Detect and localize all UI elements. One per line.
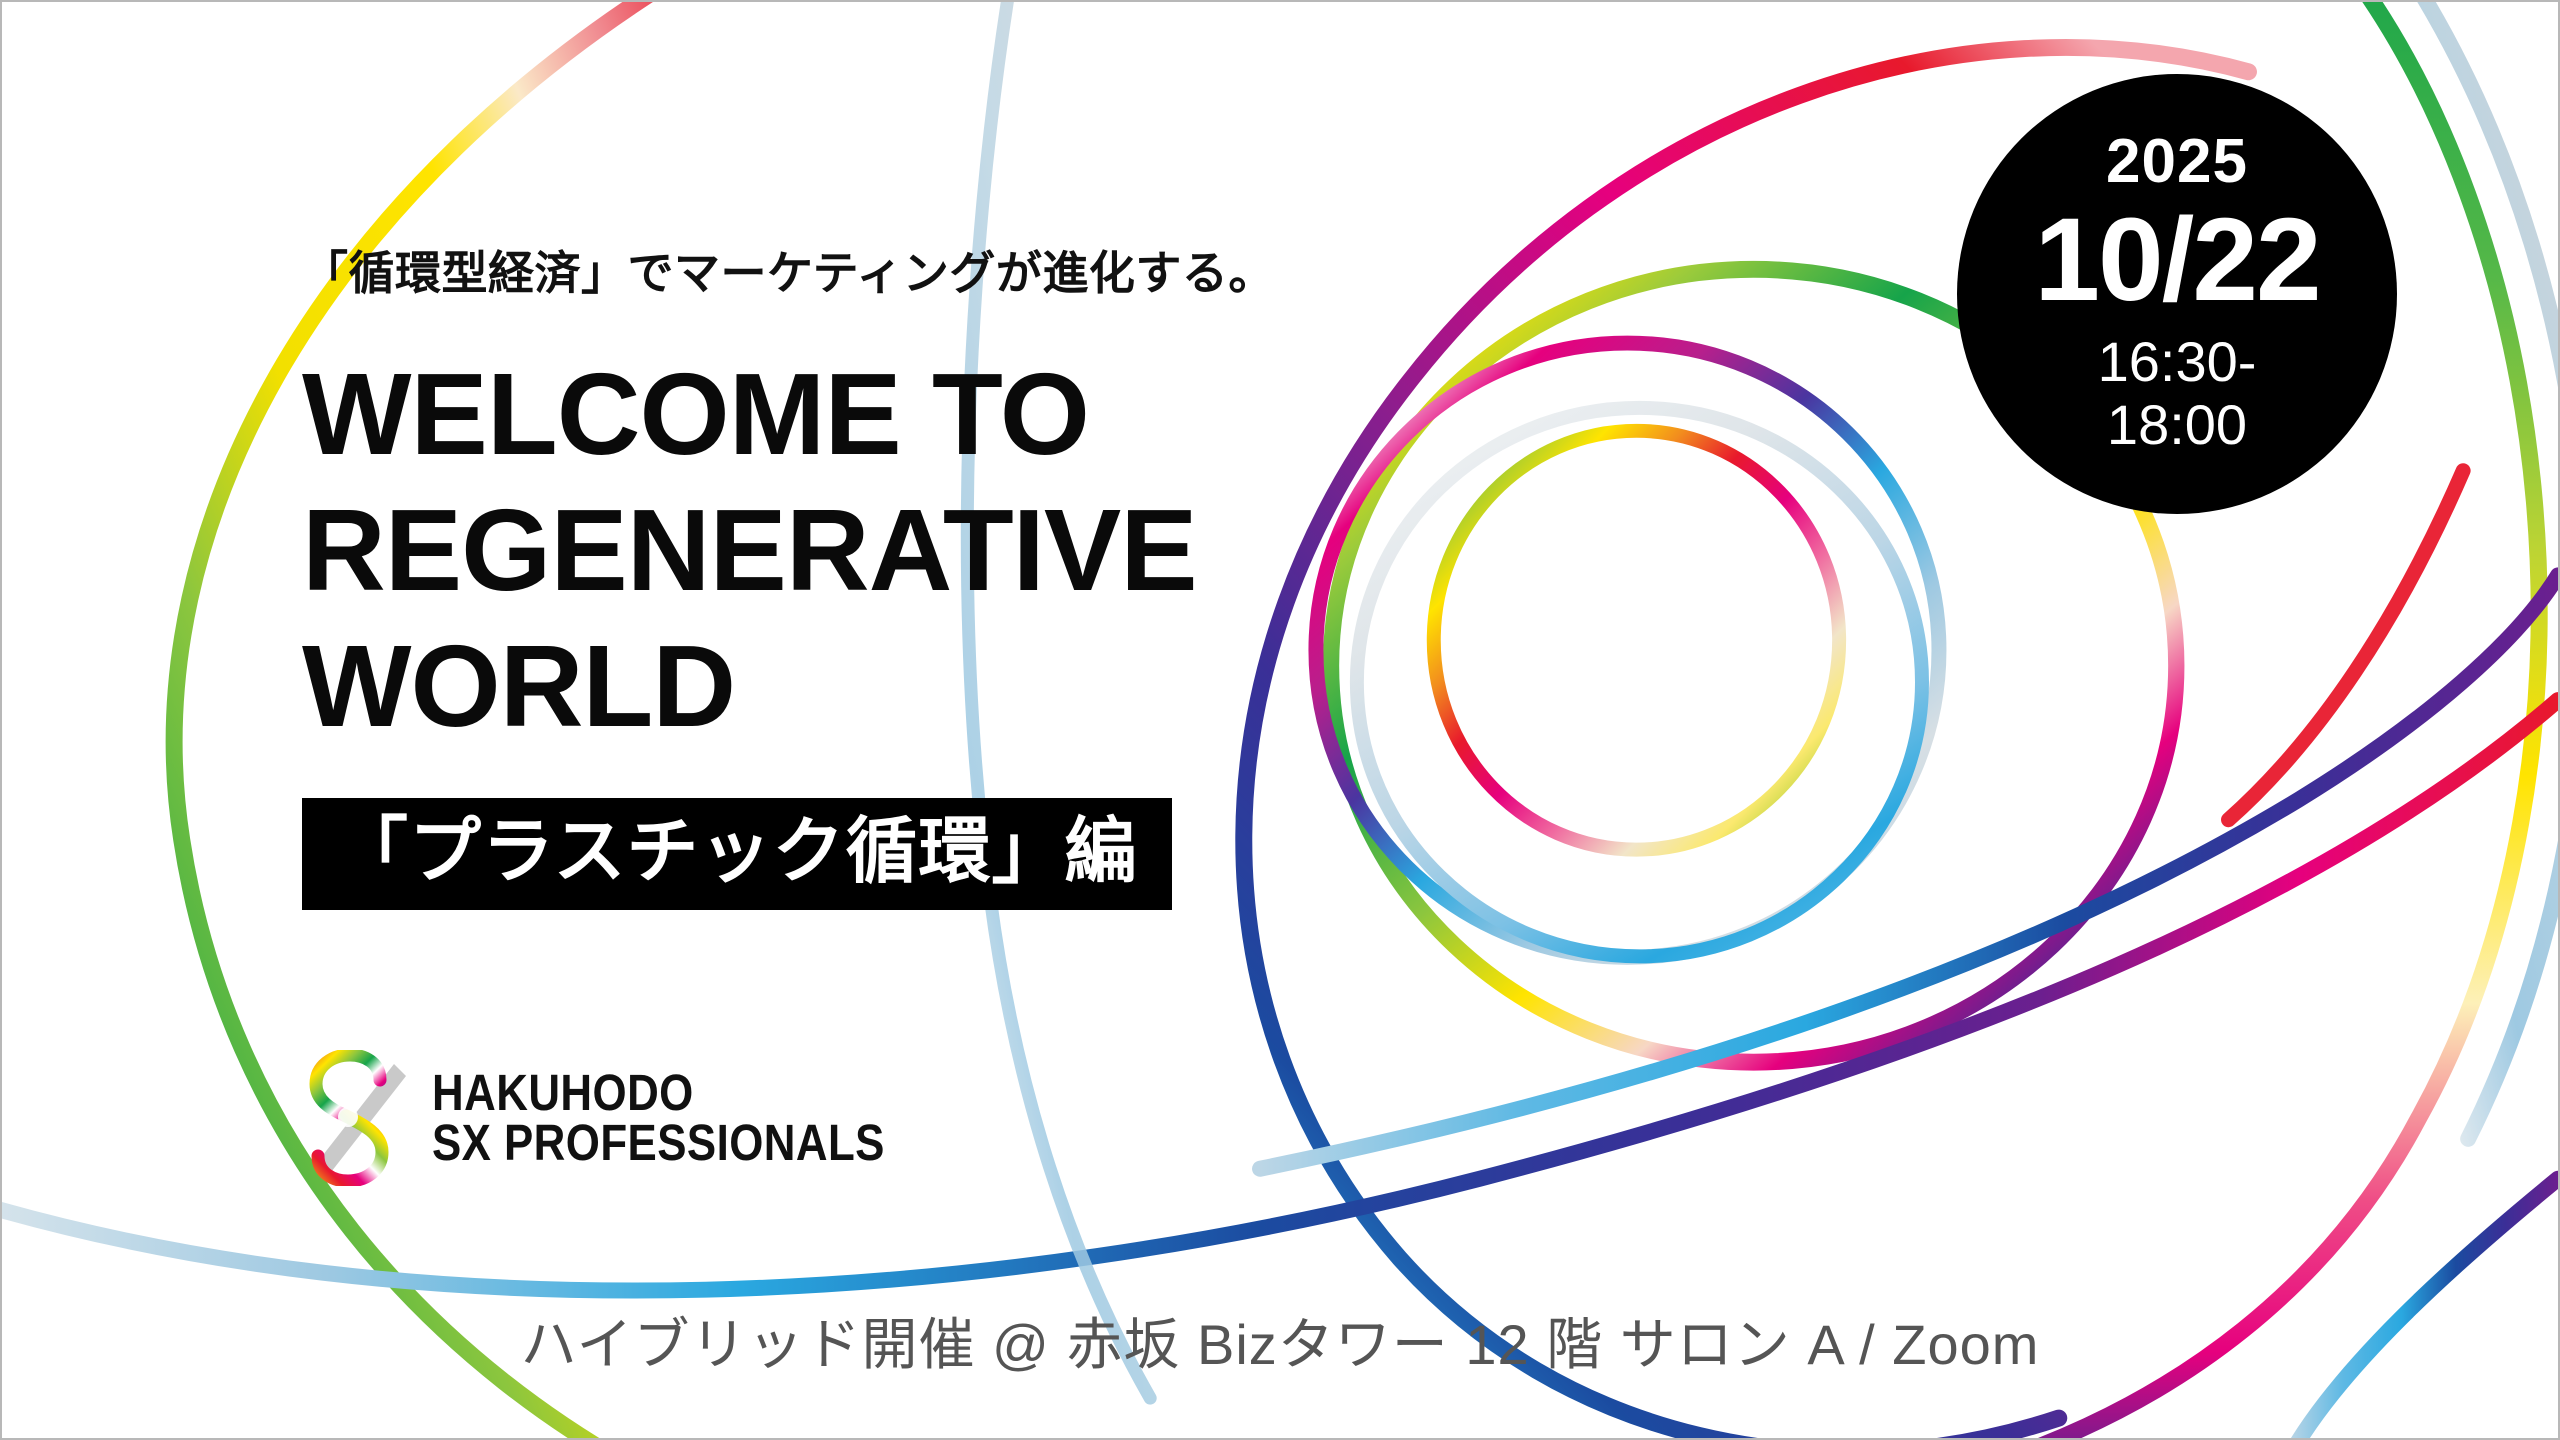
headline-line-2: REGENERATIVE — [302, 483, 1422, 619]
badge-time-start: 16:30- — [2098, 331, 2257, 394]
tagline: 「循環型経済」でマーケティングが進化する。 — [302, 246, 1422, 301]
headline-line-1: WELCOME TO — [302, 347, 1422, 483]
subtitle-band: 「プラスチック循環」編 — [302, 798, 1172, 910]
badge-year: 2025 — [2106, 131, 2248, 193]
headline-line-3: WORLD — [302, 619, 1422, 755]
venue-line: ハイブリッド開催 @ 赤坂 Bizタワー 12 階 サロン A / Zoom — [2, 1300, 2558, 1381]
badge-time-end: 18:00 — [2107, 394, 2247, 457]
arc-badge-underline — [2229, 471, 2464, 820]
brand-logo: HAKUHODO SX PROFESSIONALS — [302, 1050, 959, 1186]
arc-bottom-2 — [1260, 575, 2558, 1168]
date-badge: 2025 10/22 16:30- 18:00 — [1957, 74, 2397, 514]
badge-day: 10/22 — [2034, 201, 2319, 319]
event-banner: 「循環型経済」でマーケティングが進化する。 WELCOME TO REGENER… — [0, 0, 2560, 1440]
arc-silver-right — [2408, 2, 2558, 1139]
logo-line-1: HAKUHODO — [432, 1068, 885, 1118]
hakuhodo-sx-infinity-icon — [302, 1050, 414, 1186]
ring-4 — [1357, 408, 1922, 956]
logo-line-2: SX PROFESSIONALS — [432, 1118, 885, 1168]
ring-inner — [1434, 431, 1839, 850]
page-title: WELCOME TO REGENERATIVE WORLD — [302, 347, 1422, 754]
main-content: 「循環型経済」でマーケティングが進化する。 WELCOME TO REGENER… — [302, 246, 1422, 910]
logo-wordmark: HAKUHODO SX PROFESSIONALS — [432, 1068, 959, 1168]
